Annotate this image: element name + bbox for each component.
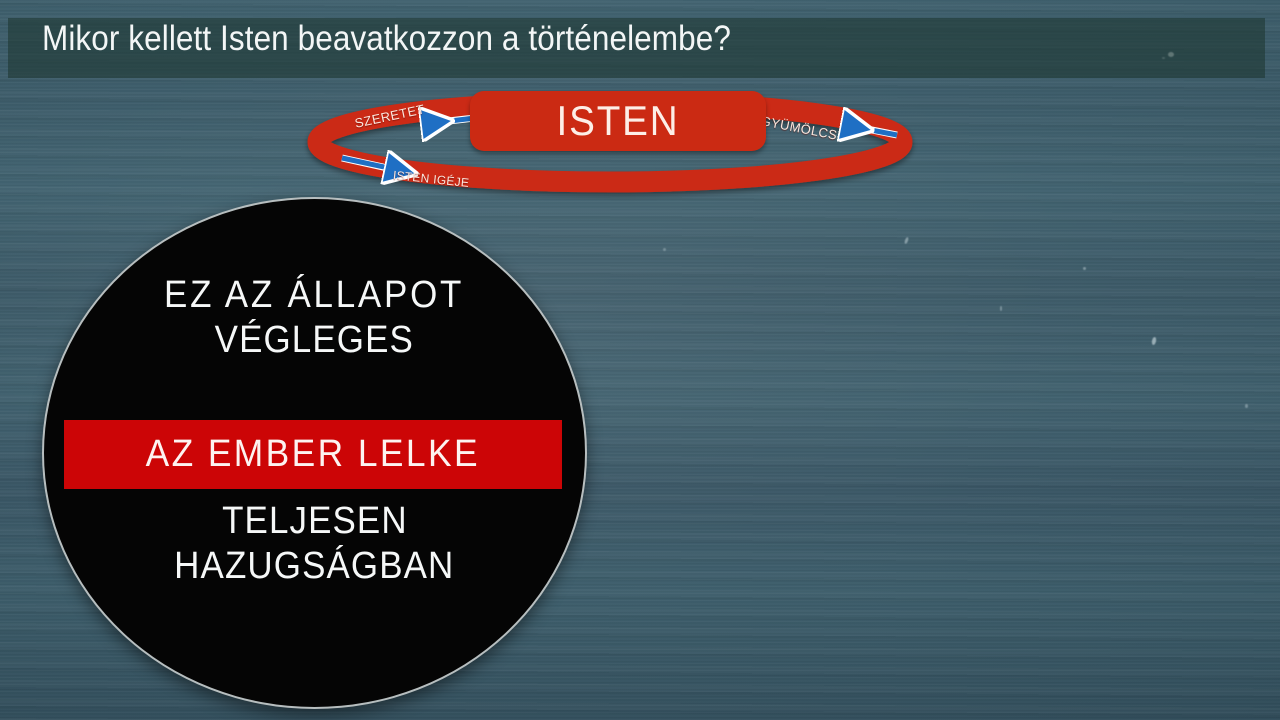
- background-speck: [1245, 404, 1248, 408]
- statement-line-2: VÉGLEGES: [215, 318, 414, 363]
- statement-circle: EZ AZ ÁLLAPOT VÉGLEGES AZ EMBER LELKE TE…: [42, 197, 587, 709]
- statement-line-4: HAZUGSÁGBAN: [174, 544, 454, 589]
- page-title: Mikor kellett Isten beavatkozzon a törté…: [42, 19, 731, 59]
- cycle-center-node: ISTEN: [470, 91, 766, 151]
- background-speck: [1083, 267, 1086, 270]
- statement-circle-bottom-text: TELJESEN HAZUGSÁGBAN: [44, 499, 585, 589]
- arrow-isten-igeje: [342, 158, 392, 169]
- statement-line-1: EZ AZ ÁLLAPOT: [164, 273, 464, 318]
- statement-line-3: TELJESEN: [222, 499, 408, 544]
- background-speck: [1000, 306, 1002, 311]
- arrow-szeretet: [422, 118, 475, 124]
- background-speck: [663, 248, 666, 251]
- statement-highlight-band: AZ EMBER LELKE: [64, 420, 562, 489]
- presentation-slide: Mikor kellett Isten beavatkozzon a törté…: [0, 0, 1280, 720]
- statement-highlight-text: AZ EMBER LELKE: [146, 433, 480, 476]
- cycle-center-node-label: ISTEN: [482, 91, 754, 151]
- arrow-gyumolcs: [842, 124, 897, 135]
